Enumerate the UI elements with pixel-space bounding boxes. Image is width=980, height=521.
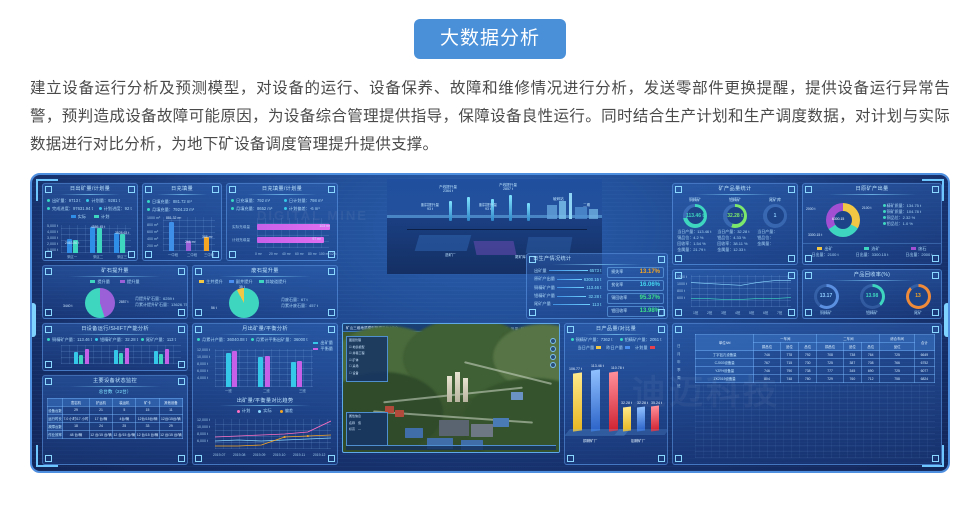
x-tick: 2019-12 [313, 453, 325, 457]
x-tick: 一中段 [168, 252, 178, 257]
donut-center-label: 6300.15 [832, 217, 844, 221]
mine-label-plant: 选矿厂 [445, 253, 456, 257]
y-tick: 10,000 t [197, 355, 210, 359]
mine-label-aux-1: 副井提升量93 t [421, 203, 439, 212]
x-tick: 80 m³ [308, 252, 317, 256]
panel-waste-rock[interactable]: 废石提升量 主井提升 副井提升 斜坡道提升 35 t 56 t 月废石量：67 … [192, 265, 338, 319]
panel-recovery-rings[interactable]: 产品回收率(%) 13.17 铜精矿 13.98 钼精矿 13 [802, 269, 942, 319]
x-tick: 100 m³ [319, 252, 330, 256]
y-tick: 6,000 t [197, 439, 208, 443]
legend-item: 主井提升 [199, 279, 223, 285]
legend-item: 月填充量：8652 m³ [231, 206, 278, 212]
bar-value-label: 4586.45 t [91, 225, 105, 229]
y-tick: 实际充填量 [232, 225, 250, 230]
x-tick: 采区一 [67, 254, 77, 259]
gauge-cu: 铜精矿 113.46 t 当日产量：113.46 t 铜品位：4.2 % 回收率… [675, 197, 715, 254]
legend-item: 月累计产量：36040.08 t [197, 337, 247, 343]
legend-item: 提升量 [90, 279, 110, 285]
panel-daily-output-donut[interactable]: 日原矿产出量 2000 t 2100 t 3300.15 t 6300.15 精… [802, 183, 942, 265]
donut-label: 2100 t [862, 206, 871, 210]
panel-daily-fill-plan[interactable]: 日充填量/计划量 日充填量：792 m³ 日计划量：798 m³ 月填充量：86… [226, 183, 338, 261]
bar-value-label: 2463.86 t [65, 241, 79, 245]
y-tick: 1000 m³ [147, 216, 160, 220]
dashboard-screenshot: 产线提升量2364 t 产线提升量2857 t 副井提升量93 t 副井提升量9… [30, 173, 950, 473]
x-tick: 7班 [777, 310, 782, 315]
y-tick: 12,000 t [197, 348, 210, 352]
x-tick: 0 m³ [255, 252, 262, 256]
mine-label-hoist-2: 产线提升量2857 t [499, 183, 517, 192]
panel-equipment-trend[interactable]: 1200 t 1000 t 800 t 600 t 1班 2班 3班 4班 5班… [672, 269, 798, 319]
legend-item: 铜精矿产量：113.46 t [47, 337, 92, 343]
chart-3d-bars: 106.77 t 113.46 t 110.78 t 铜精矿厂 32.28 t … [565, 353, 667, 455]
legend-item: 计划量：9281 t [86, 198, 119, 204]
legend-item: 偏差 [280, 408, 293, 414]
stat-row: 钼精矿产量32.28 t [530, 292, 605, 300]
y-tick: 1,000 t [47, 248, 58, 252]
donut-label: 3300.15 t [808, 233, 822, 237]
pie-value-label: 35 t [239, 285, 245, 289]
panel-title: 矿石提升量 [43, 266, 187, 277]
pie-value-label: 2857 t [119, 300, 128, 304]
mine-label-hoist-1: 产线提升量2364 t [439, 185, 457, 194]
y-tick: 6,000 t [197, 369, 208, 373]
trend-lines [215, 419, 331, 449]
panel-title: 日产品量/对比量 [565, 324, 667, 335]
dashboard-corner-top-right [922, 179, 944, 201]
kpi-cu-recovery: 铜回收率95.37% [607, 293, 664, 304]
x-tick: 2班 [707, 310, 712, 315]
page-header: 大数据分析 [0, 0, 980, 59]
chart-ore-balance-trend: 12,000 t 10,000 t 8,000 t 6,000 t 2019-0… [197, 417, 333, 457]
table-row: CJ003设备量 767 715 730 725 387 708 766 675… [696, 359, 935, 367]
gauge-tailings: 尾矿库 1 当日产量： 钼品位： 金属量： [755, 197, 795, 254]
chart-daily-fill: 1000 m³ 800 m³ 600 m³ 400 m³ 200 m³ 881.… [147, 215, 217, 257]
chart-monthly-ore: 12,000 t 10,000 t 8,000 t 6,000 t 4,000 … [197, 347, 333, 393]
y-tick: 1200 t [677, 275, 687, 279]
table-row: 作业效率 48 台/辆 12 台/15 台/辆 12 台/15 台/辆 12 台… [48, 430, 183, 438]
shift-comparison-table[interactable]: 单位/t/d 一车间 二车间 综合车间 合计 铜品位 品位 品位 铜品位 品位 … [695, 334, 935, 383]
legend-item: 尾矿产量：113 t [141, 337, 176, 343]
table-row: 运行时长 7.0 小时/17 小时 17 台/辆 4台/辆 12台/15台/辆 … [48, 414, 183, 422]
mine-label-phase2: 二期 [583, 203, 590, 207]
legend-item: 计划进度：92 t [99, 206, 132, 212]
map-zoom-out-icon[interactable] [550, 346, 556, 352]
kpi-mo-recovery: 钼回收率13.98% [607, 306, 664, 317]
panel-title: 产品回收率(%) [803, 270, 941, 281]
map-info-row: 标高 — [347, 426, 387, 433]
mine-label-aux-2: 副井提升量93 t [479, 203, 497, 212]
x-tick: 三中段 [204, 252, 214, 257]
series-legend-today: 当日产量 [577, 345, 601, 351]
pie-ore-hoist [85, 288, 115, 318]
gauge-mo: 钼精矿 32.28 t 当日产量：32.28 t 钼品位：4.33 % 回收率：… [715, 197, 755, 254]
equipment-status-table[interactable]: 凿岩机 铲运机 装运机 矿卡 其他设备 设备台数 29 21 5 15 11 运… [47, 398, 183, 439]
shift-table-side-tabs[interactable]: 日 月 年 季 周 班 [677, 344, 681, 389]
intro-paragraph: 建立设备运行分析及预测模型，对设备的运行、设备保养、故障和维修情况进行分析，发送… [30, 75, 950, 159]
legend-item: 钼精矿产量：32.28 t [95, 337, 138, 343]
series-legend-yesterday: 昨日产量 [606, 345, 630, 351]
chart-equipment-trend: 1200 t 1000 t 800 t 600 t 1班 2班 3班 4班 5班… [677, 273, 793, 315]
stat-row: 尾矿产量113 t [530, 300, 605, 308]
chart-daily-fill-plan: 实际充填量 计划充填量 103 m³ 97 m³ 0 m³ 20 m³ 40 m… [231, 216, 333, 256]
recovery-ring-tailings: 13 尾矿 [906, 284, 931, 316]
chart-daily-ore-plan: 5,000 t 4,000 t 3,000 t 2,000 t 1,000 t … [47, 223, 133, 259]
table-row: YZFH设备量 746 790 738 777 345 690 725 6077 [696, 367, 935, 375]
bar3d-value: 113.46 t [591, 364, 604, 368]
x-tick: 40 m³ [282, 252, 291, 256]
map-layer-item[interactable]: ☐ 设备 [347, 370, 387, 377]
y-tick: 10,000 t [197, 425, 210, 429]
y-tick: 600 t [677, 296, 685, 300]
legend-item: 铜精矿产量：7362 t [571, 337, 613, 343]
y-tick: 400 m³ [147, 237, 158, 241]
gauge-stat: 金属量：12.33 t [717, 247, 755, 253]
recovery-ring-mo: 13.98 钼精矿 [860, 284, 885, 316]
bar3d-value: 106.77 t [569, 367, 582, 371]
x-tick: 一班 [225, 388, 232, 393]
trend-lines [691, 275, 791, 307]
donut-legend-item: 选矿 日出量：3300.15 t [856, 246, 889, 258]
bar-value-label: 388 m³ [202, 235, 213, 239]
legend-item: 日充填量：792 m³ [231, 198, 278, 204]
panel-daily-fill[interactable]: 日充填量 日填充量：881.72 m³ 月填充量：7924.23 m³ 1000… [142, 183, 222, 261]
legend-item: 月填充量：7924.23 m³ [147, 207, 217, 213]
x-tick: 120 m³ [330, 252, 338, 256]
panel-title: 废石提升量 [193, 266, 337, 277]
bar-value-label: 103 m³ [319, 224, 330, 228]
x-tick: 2019-09 [253, 453, 265, 457]
series-legend-plan: 计划量 [635, 345, 655, 351]
gauge-ring: 32.28 t [723, 204, 747, 228]
equipment-total: 总台数（22台） [43, 387, 187, 398]
legend-item: 实际 [258, 408, 271, 414]
panel-shift-output[interactable]: 日设备运行/SHIFT产能分析 铜精矿产量：113.46 t 钼精矿产量：32.… [42, 323, 188, 371]
x-tick: 二中段 [187, 252, 197, 257]
y-tick: 2,000 t [47, 242, 58, 246]
table-header-row-group: 单位/t/d 一车间 二车间 综合车间 合计 [696, 335, 935, 343]
legend-item: 计划偏差：-6 m³ [284, 206, 331, 212]
y-tick: 8,000 t [197, 362, 208, 366]
panel-ore-hoist[interactable]: 矿石提升量 提升量 提升量 3440 t 2857 t 月提升矿石量：6259 … [42, 265, 188, 319]
table-row: 故障台数 18 24 25 33 29 [48, 422, 183, 430]
y-tick: 4,000 t [47, 230, 58, 234]
bar-value-label: 97 m³ [312, 237, 321, 241]
legend-item: 月累计平衡出矿量：36000 t [251, 337, 308, 343]
panel-title: 日生产情况统计 [527, 254, 667, 265]
panel-title: 日原矿产出量 [803, 184, 941, 195]
gauge-ring: 113.46 t [683, 204, 707, 228]
dashboard-corner-bottom-left [36, 445, 58, 467]
panel-3d-map[interactable]: 矿山三维地质模型管理平台 V3.0 三维 二维 测量 标注 设置 ⚙ ⛶ ✕ [342, 323, 560, 453]
x-tick: 1班 [693, 310, 698, 315]
pie-value-label: 3440 t [63, 304, 72, 308]
y-tick: 800 t [677, 289, 685, 293]
mine-label-tailings: 尾矿库 [515, 255, 526, 259]
legend-item: 钼精矿产量：2051 t [620, 337, 662, 343]
x-tick: 采区二 [93, 254, 103, 259]
panel-product-gauges[interactable]: 矿产品量统计 铜精矿 113.46 t 当日产量：113.46 t 铜品位：4.… [672, 183, 798, 265]
y-tick: 4,000 t [197, 376, 208, 380]
bar3d-value: 110.78 t [611, 366, 624, 370]
stat-line: 月累计废石量：457 t [281, 303, 318, 309]
legend-item: 完成进度：97631.94 t [47, 206, 93, 212]
y-tick: 计划充填量 [232, 238, 250, 243]
panel-shift-table[interactable]: 日 月 年 季 周 班 单位/t/d 一车间 二车间 综合车间 合计 铜品位 品… [672, 323, 942, 465]
recovery-ring-cu: 13.17 铜精矿 [814, 284, 839, 316]
map-home-icon[interactable] [550, 354, 556, 360]
legend-item: 日计划量：798 m³ [284, 198, 331, 204]
dashboard-left-tab [30, 303, 36, 337]
shift-table-extra-chart [695, 384, 935, 458]
legend-item: 提升量 [120, 279, 140, 285]
bar3d-category: 钼精矿厂 [631, 439, 645, 444]
bar3d-value: 35.24 t [651, 401, 662, 405]
dashboard-corner-top-left [36, 179, 58, 201]
gauge-ring: 1 [763, 204, 787, 228]
panel-title: 日充填量 [143, 184, 221, 195]
bar-value-label: 266 m³ [185, 240, 196, 244]
legend-item: 计划 [237, 408, 250, 414]
x-tick: 2019-11 [293, 453, 305, 457]
bar3d-value: 32.28 t [637, 401, 648, 405]
chart-shift-output [47, 344, 183, 366]
bar3d-category: 铜精矿厂 [583, 439, 597, 444]
map-tool-buttons[interactable] [550, 338, 556, 368]
y-tick: 200 m³ [147, 244, 158, 248]
x-tick: 4班 [735, 310, 740, 315]
dashboard-right-tab [944, 303, 950, 337]
gauge-stat: 金属量： [757, 241, 795, 247]
gauge-stat: 金属量：21.79 t [677, 247, 715, 253]
page-title-badge: 大数据分析 [414, 19, 566, 59]
x-tick: 60 m³ [295, 252, 304, 256]
x-tick: 采区三 [117, 254, 127, 259]
x-tick: 3班 [721, 310, 726, 315]
stat-row: 铜精矿产量113.46 t [530, 283, 605, 291]
dashboard-corner-bottom-right [922, 445, 944, 467]
x-tick: 二班 [263, 388, 270, 393]
map-zoom-in-icon[interactable] [550, 338, 556, 344]
y-tick: 800 m³ [147, 223, 158, 227]
x-tick: 2019-10 [273, 453, 285, 457]
pie-waste-rock [229, 288, 259, 318]
map-status-bar [346, 445, 556, 450]
x-tick: 5班 [749, 310, 754, 315]
series-legend-actual: 实际 [71, 214, 86, 220]
table-header-row: 凿岩机 铲运机 装运机 矿卡 其他设备 [48, 398, 183, 406]
donut-legend-item: 出矿 日出量：2100 t [812, 246, 839, 258]
series-legend-plan: 计划 [94, 214, 109, 220]
map-compass-icon[interactable] [550, 362, 556, 368]
dashboard-wrapper: 产线提升量2364 t 产线提升量2857 t 副井提升量93 t 副井提升量9… [30, 173, 950, 473]
panel-monthly-ore[interactable]: 月出矿量/平衡分析 月累计产量：36040.08 t 月累计平衡出矿量：3600… [192, 323, 338, 465]
x-tick: 2019-08 [233, 453, 245, 457]
bar-value-label: 3528.63 t [115, 231, 129, 235]
x-tick: 2019-07 [213, 453, 225, 457]
panel-daily-production-stats[interactable]: 日生产情况统计 出矿量6573 t 原矿产出量6300.15 t 铜精矿产量11… [526, 253, 668, 319]
panel-title: 矿产品量统计 [673, 184, 797, 195]
panel-title: 日设备运行/SHIFT产能分析 [43, 324, 187, 335]
legend-item: 斜坡道提升 [259, 279, 287, 285]
mine-label-crusher: 破碎站 [553, 197, 564, 201]
donut-label: 2000 t [806, 207, 815, 211]
stat-line: 钼品位：1.0 % [883, 221, 938, 227]
y-tick: 3,000 t [47, 236, 58, 240]
donut-legend-item: 废石 日出量：2000 t [905, 246, 932, 258]
y-tick: 600 m³ [147, 230, 158, 234]
y-tick: 5,000 t [47, 224, 58, 228]
map-info-panel[interactable]: 属性信息 名称 值 标高 — [346, 412, 388, 446]
bar-value-label: 881.32 m³ [166, 216, 181, 220]
map-layer-panel[interactable]: 图层管理 ☑ 地表模型 ☑ 井巷工程 ☑ 矿体 ☐ 采场 ☐ 设备 [346, 336, 388, 382]
y-tick: 8,000 t [197, 432, 208, 436]
panel-title: 月出矿量/平衡分析 [193, 324, 337, 335]
panel-title: 日充填量/计划量 [227, 184, 337, 195]
stat-row: 出矿量6573 t [530, 267, 605, 275]
pie-value-label: 56 t [211, 306, 217, 310]
kpi-loss-rate: 损失率13.17% [607, 267, 664, 278]
y-tick: 1000 t [677, 282, 687, 286]
table-row: 设备台数 29 21 5 15 11 [48, 406, 183, 414]
table-row: ZK2019设备量 804 748 780 729 760 712 758 68… [696, 375, 935, 383]
bar3d-value: 32.28 t [621, 401, 632, 405]
stat-row: 原矿产出量6300.15 t [530, 275, 605, 283]
x-tick: 三班 [299, 388, 306, 393]
x-tick: 6班 [763, 310, 768, 315]
panel-title: 主要设备状态监控 [43, 376, 187, 387]
y-tick: 12,000 t [197, 418, 210, 422]
panel-equipment-status[interactable]: 主要设备状态监控 总台数（22台） 凿岩机 铲运机 装运机 矿卡 其他设备 设备… [42, 375, 188, 465]
stat-line: 月累计提升矿石量：13626.75 t [135, 302, 188, 308]
panel-subtitle: 出矿量/平衡量对比趋势 [193, 396, 337, 407]
legend-item: 日填充量：881.72 m³ [147, 199, 217, 205]
table-row: 丁字钻孔设备量 746 778 792 708 738 764 725 6649 [696, 351, 935, 359]
x-tick: 20 m³ [269, 252, 278, 256]
kpi-dilution-rate: 贫化率16.06% [607, 280, 664, 291]
panel-3d-output[interactable]: 日产品量/对比量 铜精矿产量：7362 t 钼精矿产量：2051 t 当日产量 … [564, 323, 668, 465]
